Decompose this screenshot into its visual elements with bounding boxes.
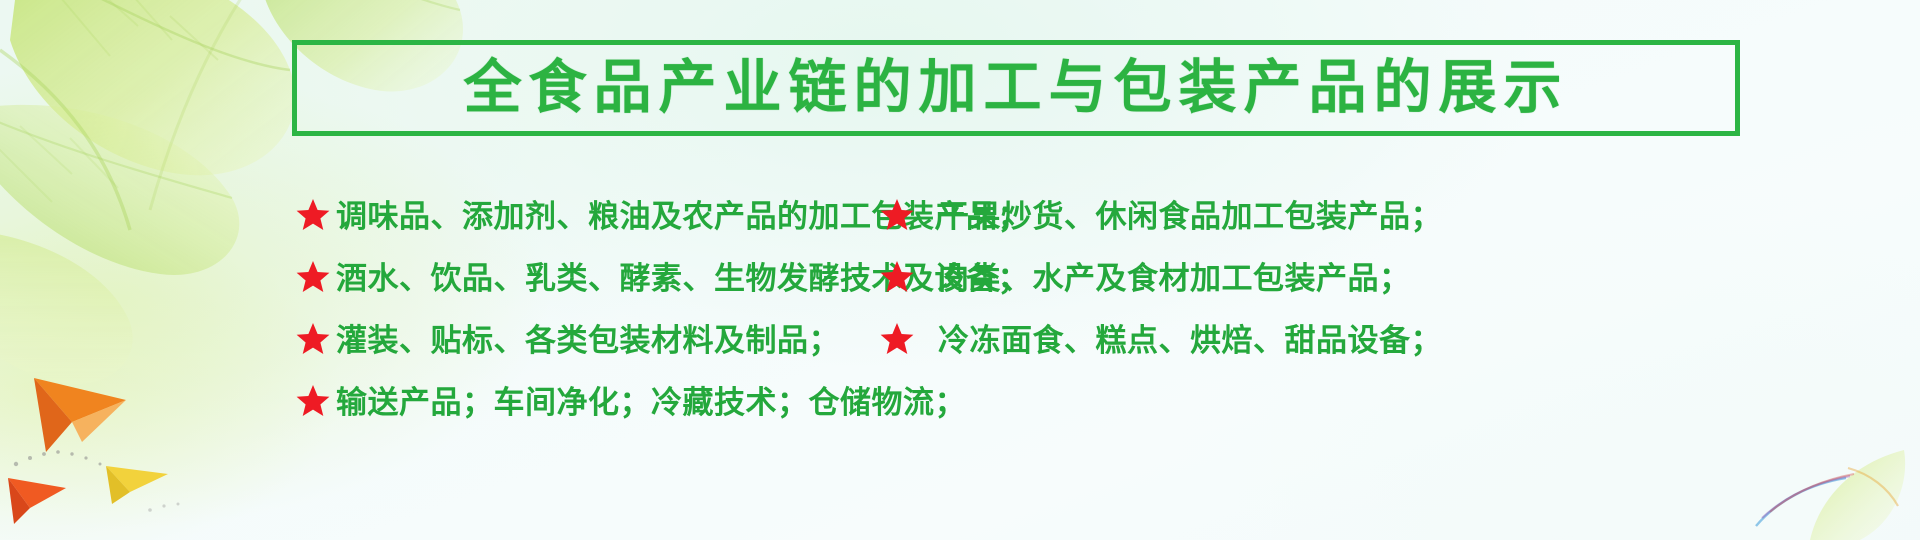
list-item: 酒水、饮品、乳类、酵素、生物发酵技术及设备； (296, 247, 860, 309)
promo-banner: 全食品产业链的加工与包装产品的展示 调味品、添加剂、粮油及农产品的加工包装产品； (0, 0, 1920, 540)
star-icon (296, 384, 330, 418)
list-item-label: 灌装、贴标、各类包装材料及制品； (336, 325, 840, 356)
list-item: 肉类、水产及食材加工包装产品； (880, 247, 1920, 309)
list-item-label: 肉类、水产及食材加工包装产品； (938, 263, 1411, 294)
left-column: 调味品、添加剂、粮油及农产品的加工包装产品； 酒水、饮品、乳类、酵素、生物发酵技… (0, 185, 860, 433)
list-item: 冷冻面食、糕点、烘焙、甜品设备； (880, 309, 1920, 371)
bullet-columns: 调味品、添加剂、粮油及农产品的加工包装产品； 酒水、饮品、乳类、酵素、生物发酵技… (0, 185, 1920, 433)
list-item: 调味品、添加剂、粮油及农产品的加工包装产品； (296, 185, 860, 247)
list-item-label: 冷冻面食、糕点、烘焙、甜品设备； (938, 325, 1442, 356)
list-item-label: 干果炒货、休闲食品加工包装产品； (938, 201, 1442, 232)
star-icon (880, 322, 914, 356)
star-icon (296, 198, 330, 232)
page-title: 全食品产业链的加工与包装产品的展示 (463, 59, 1568, 117)
list-item: 干果炒货、休闲食品加工包装产品； (880, 185, 1920, 247)
list-item: 灌装、贴标、各类包装材料及制品； (296, 309, 860, 371)
star-icon (296, 322, 330, 356)
star-icon (296, 260, 330, 294)
title-box: 全食品产业链的加工与包装产品的展示 (292, 40, 1740, 136)
list-item: 输送产品；车间净化；冷藏技术；仓储物流； (296, 371, 860, 433)
right-column: 干果炒货、休闲食品加工包装产品； 肉类、水产及食材加工包装产品； 冷冻面食、糕点… (860, 185, 1920, 433)
star-icon (880, 198, 914, 232)
star-icon (880, 260, 914, 294)
